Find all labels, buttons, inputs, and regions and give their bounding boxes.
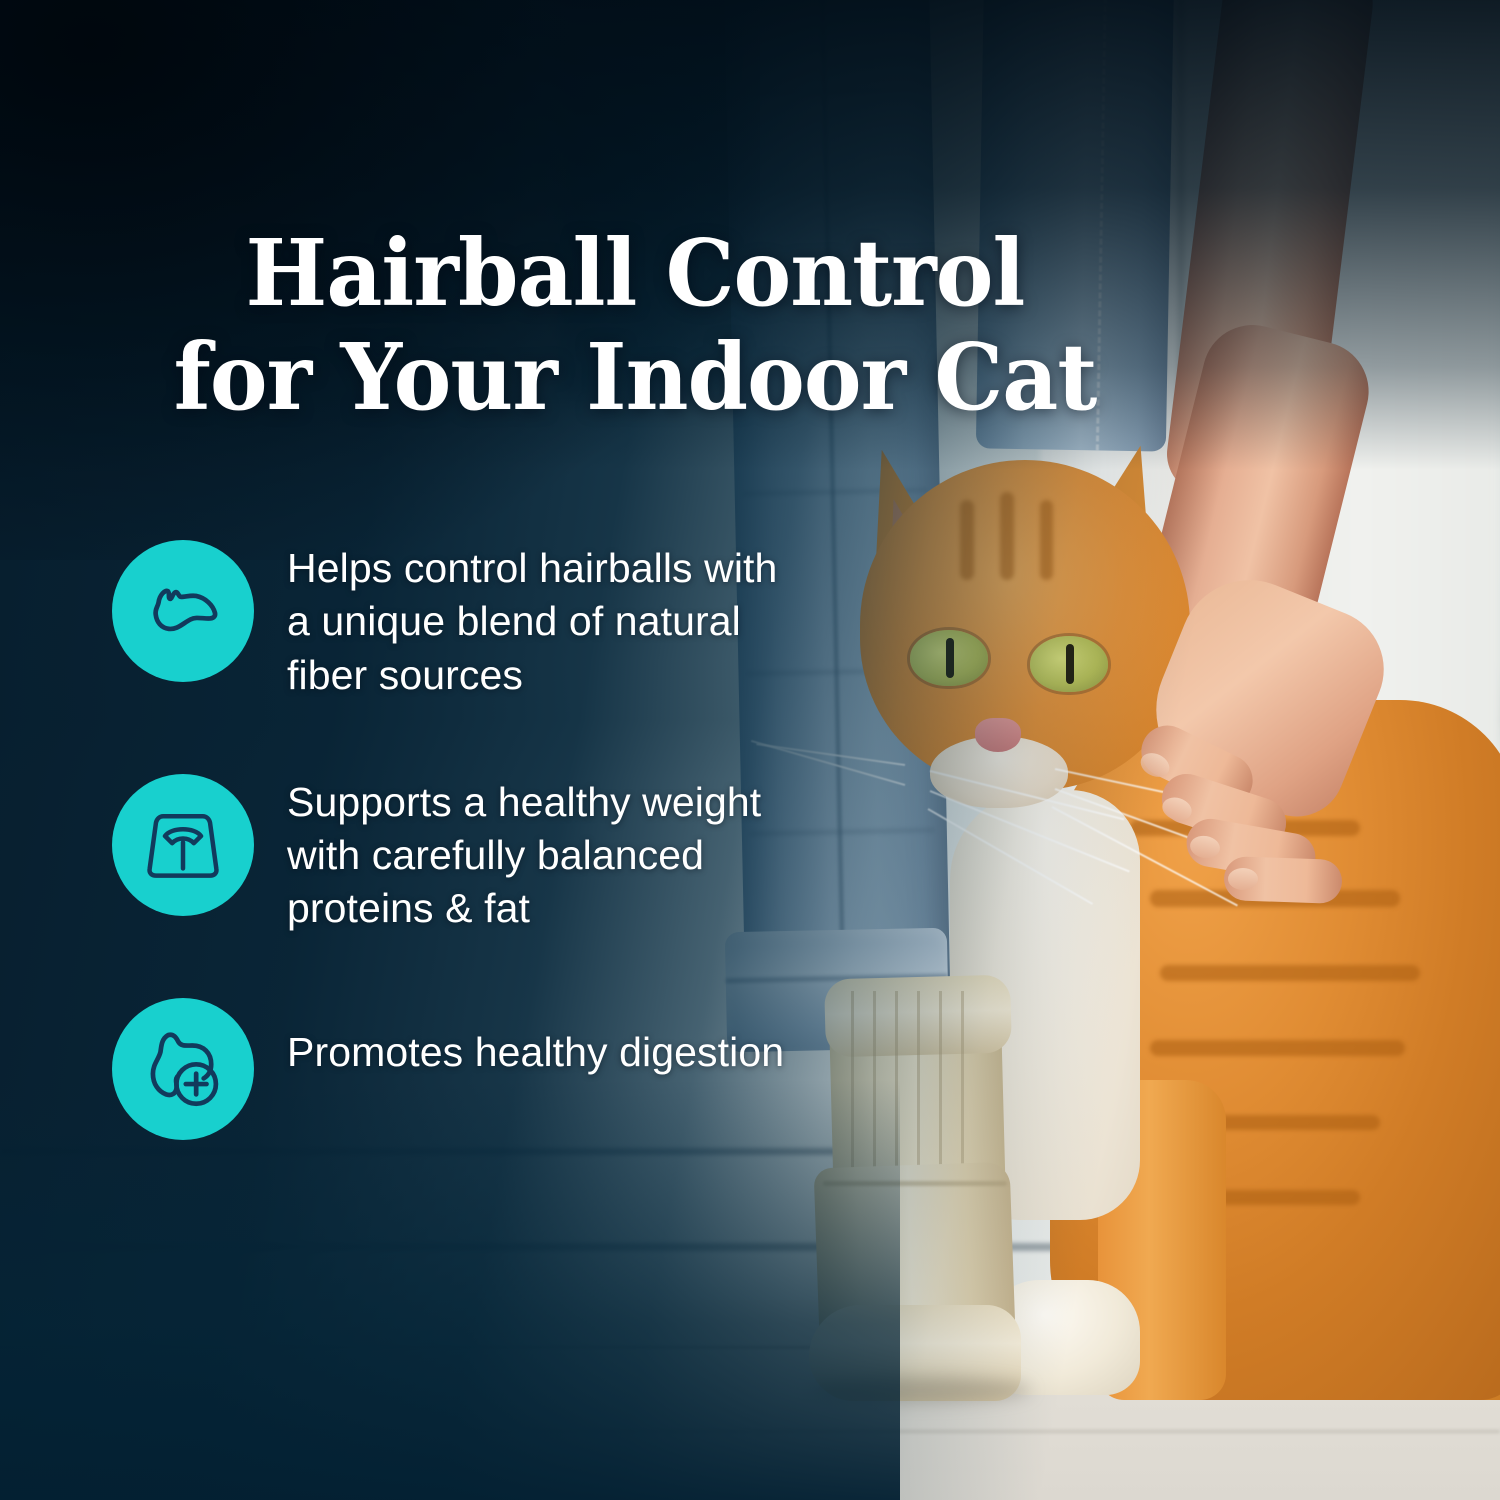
benefit-item-digestion: Promotes healthy digestion	[112, 998, 802, 1140]
bottom-vignette-overlay	[0, 1080, 900, 1500]
benefit-text-hairball: Helps control hairballs with a unique bl…	[287, 540, 802, 702]
corner-vignette-overlay	[0, 0, 760, 560]
hairball-icon-badge	[112, 540, 254, 682]
benefit-item-weight: Supports a healthy weight with carefully…	[112, 774, 802, 936]
weight-scale-icon-badge	[112, 774, 254, 916]
benefit-text-digestion: Promotes healthy digestion	[287, 998, 784, 1079]
hairball-icon	[136, 564, 230, 658]
benefits-list: Helps control hairballs with a unique bl…	[112, 540, 802, 1140]
weight-scale-icon	[138, 800, 228, 890]
benefit-item-hairball: Helps control hairballs with a unique bl…	[112, 540, 802, 702]
product-feature-banner: Hairball Control for Your Indoor Cat Hel…	[0, 0, 1500, 1500]
benefit-text-weight: Supports a healthy weight with carefully…	[287, 774, 802, 936]
stomach-plus-icon-badge	[112, 998, 254, 1140]
stomach-plus-icon	[136, 1022, 230, 1116]
